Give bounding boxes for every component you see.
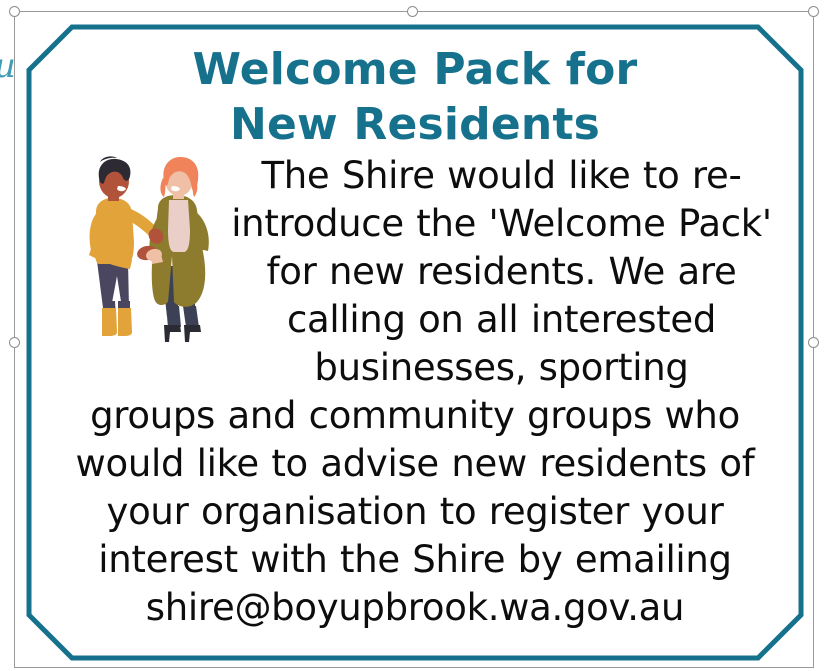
resize-handle-top-center[interactable]	[407, 6, 418, 17]
clipped-edge-glyph: u	[0, 44, 16, 88]
resize-handle-top-right[interactable]	[808, 6, 819, 17]
resize-handle-top-left[interactable]	[9, 6, 20, 17]
page-title-line-2: New Residents	[52, 97, 778, 152]
flyer-card[interactable]: Welcome Pack for New Residents	[26, 24, 804, 661]
slide-canvas: u Welcome Pack for New Residents	[0, 0, 825, 671]
two-women-shaking-hands-illustration	[66, 156, 221, 366]
resize-handle-middle-right[interactable]	[808, 337, 819, 348]
page-title: Welcome Pack for New Residents	[52, 38, 778, 152]
body-line-8: your organisation to register your	[52, 488, 778, 536]
body-paragraph: The Shire would like to re- introduce th…	[52, 152, 778, 632]
resize-handle-middle-left[interactable]	[9, 337, 20, 348]
flyer-content: Welcome Pack for New Residents	[26, 24, 804, 661]
contact-email: shire@boyupbrook.wa.gov.au	[52, 584, 778, 632]
body-line-9: interest with the Shire by emailing	[52, 536, 778, 584]
body-line-6: groups and community groups who	[52, 392, 778, 440]
selection-guide-bottom	[14, 667, 813, 668]
page-title-line-1: Welcome Pack for	[52, 42, 778, 97]
body-line-7: would like to advise new residents of	[52, 440, 778, 488]
